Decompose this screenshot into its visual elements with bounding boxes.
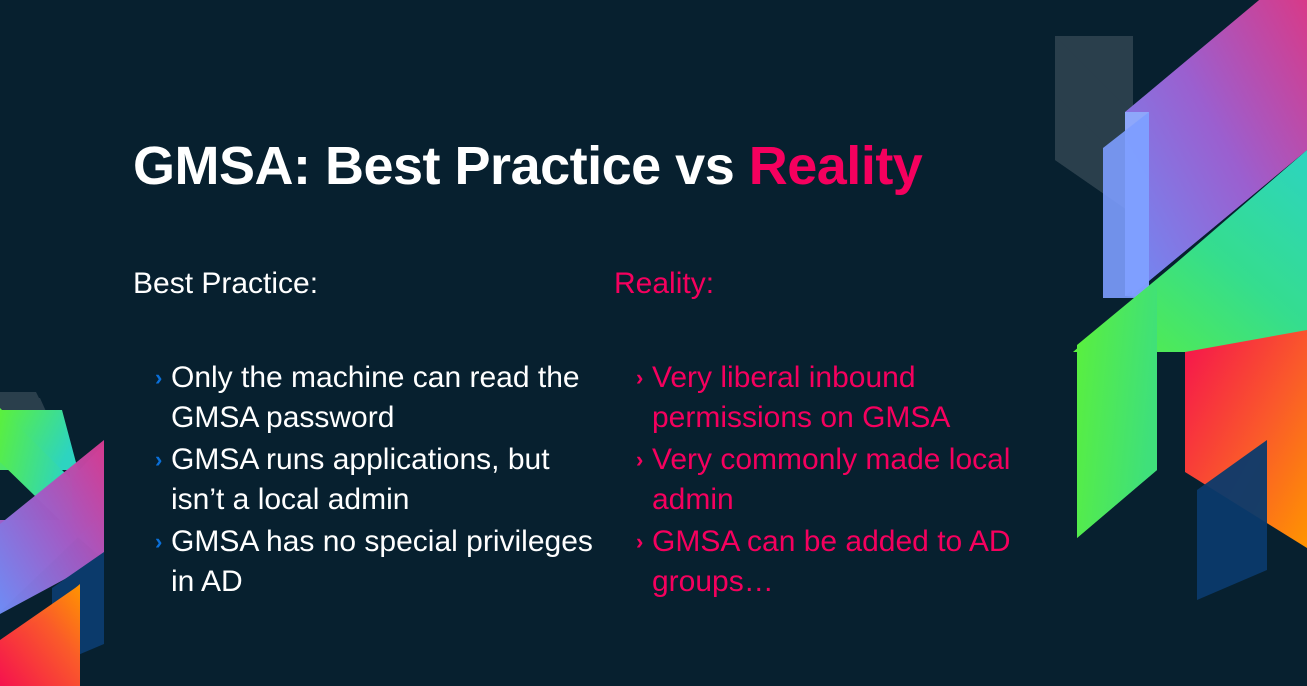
decor-shape-blue-panel <box>1103 112 1149 298</box>
list-item: › GMSA can be added to AD groups… <box>614 522 1074 602</box>
list-item-label: GMSA runs applications, but isn’t a loca… <box>171 440 593 520</box>
chevron-right-icon: › <box>614 522 652 562</box>
decor-shape-green-chevron <box>1077 280 1157 538</box>
decor-shape-slate-left-2 <box>0 392 60 440</box>
decor-shape-green-teal <box>1073 150 1307 352</box>
decor-shape-red-orange-left <box>0 586 78 686</box>
slide-title-main: GMSA: Best Practice vs <box>133 136 749 196</box>
column-reality: Reality: › Very liberal inbound permissi… <box>614 266 1074 604</box>
slide-canvas: GMSA: Best Practice vs Reality Best Prac… <box>0 0 1307 686</box>
decorative-artwork-left <box>0 0 140 686</box>
list-item: › Very liberal inbound permissions on GM… <box>614 358 1074 438</box>
column-heading-reality: Reality: <box>614 266 1074 302</box>
decor-shape-red-orange-left-2 <box>0 584 80 686</box>
bullet-list-best-practice: › Only the machine can read the GMSA pas… <box>133 358 593 602</box>
decor-shape-blue-magenta <box>1125 0 1307 296</box>
bullet-list-reality: › Very liberal inbound permissions on GM… <box>614 358 1074 602</box>
slide-title: GMSA: Best Practice vs Reality <box>133 139 922 193</box>
decor-shape-navy <box>1197 440 1267 600</box>
decor-shape-red-orange <box>1185 330 1307 548</box>
decor-shape-blue-magenta-left <box>0 520 96 612</box>
decor-shape-navy-left <box>52 552 104 666</box>
list-item-label: Only the machine can read the GMSA passw… <box>171 358 593 438</box>
list-item: › GMSA runs applications, but isn’t a lo… <box>133 440 593 520</box>
column-heading-best-practice: Best Practice: <box>133 266 593 302</box>
chevron-right-icon: › <box>133 522 171 562</box>
decor-shape-slate-left <box>0 398 58 438</box>
decor-shape-magenta-left <box>72 444 104 560</box>
decor-shape-slate <box>1055 36 1147 214</box>
chevron-right-icon: › <box>614 440 652 480</box>
list-item: › Very commonly made local admin <box>614 440 1074 520</box>
list-item-label: Very liberal inbound permissions on GMSA <box>652 358 1074 438</box>
list-item: › Only the machine can read the GMSA pas… <box>133 358 593 438</box>
list-item-label: GMSA can be added to AD groups… <box>652 522 1074 602</box>
chevron-right-icon: › <box>133 358 171 398</box>
column-best-practice: Best Practice: › Only the machine can re… <box>133 266 593 604</box>
list-item-label: Very commonly made local admin <box>652 440 1074 520</box>
slide-title-accent: Reality <box>749 136 923 196</box>
list-item-label: GMSA has no special privileges in AD <box>171 522 593 602</box>
chevron-right-icon: › <box>133 440 171 480</box>
decorative-artwork-right <box>1037 0 1307 686</box>
chevron-right-icon: › <box>614 358 652 398</box>
decor-shape-green-left <box>0 408 82 535</box>
list-item: › GMSA has no special privileges in AD <box>133 522 593 602</box>
decor-shape-blue-magenta-left-2 <box>0 440 104 614</box>
